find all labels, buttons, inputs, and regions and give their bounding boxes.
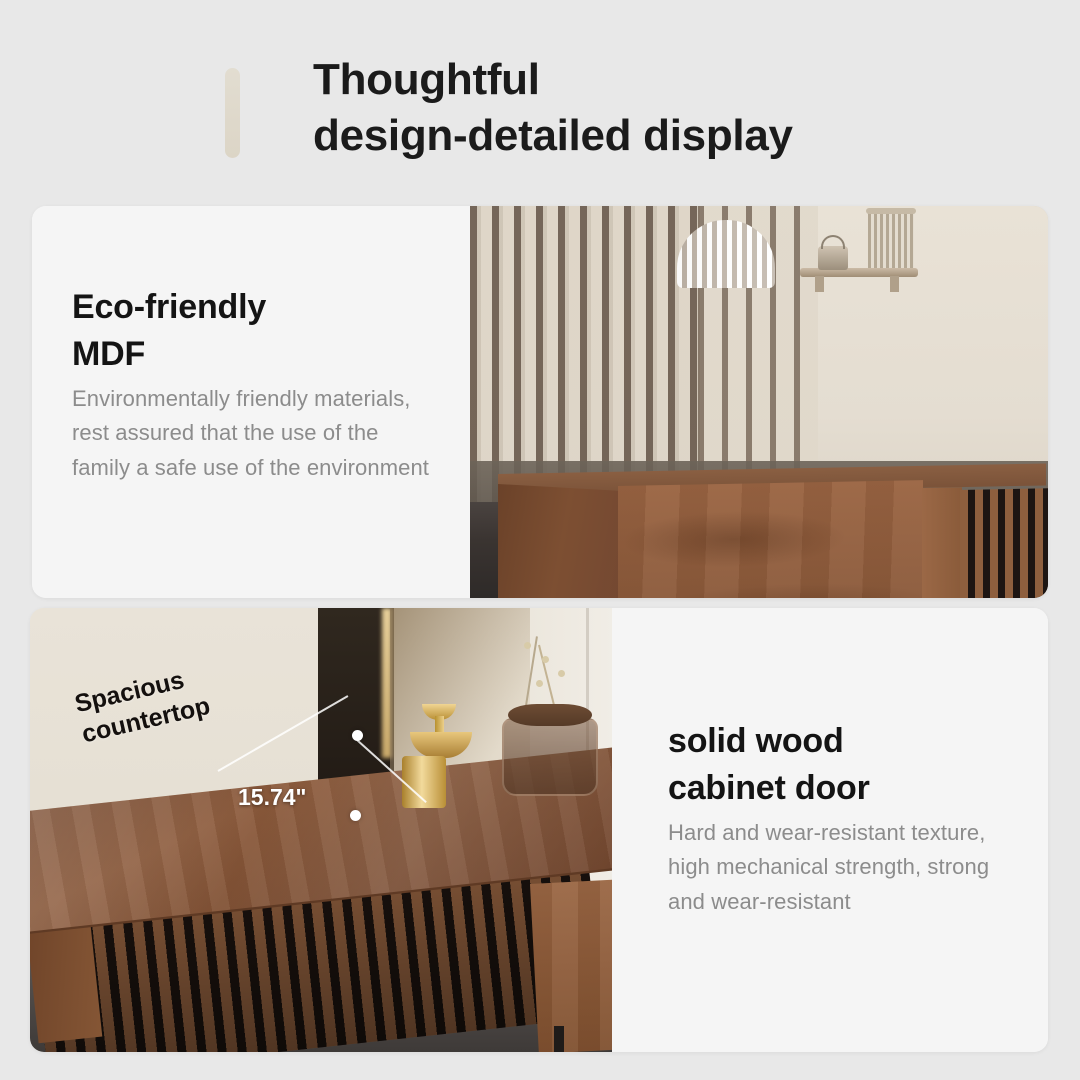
feature-title-2: solid wood cabinet door [668,718,1008,811]
cabinet-side-panel [498,484,620,598]
feature-text-block-2: solid wood cabinet door Hard and wear-re… [612,608,1048,1052]
cabinet-stile [922,487,962,598]
tray-foot-left [815,276,824,292]
page-title-line-2: design-detailed display [313,108,1053,164]
feature-panel-eco-friendly: Eco-friendly MDF Environmentally friendl… [32,206,1048,598]
product-photo-cabinet-slatwall [470,206,1048,598]
tray-foot-right [890,276,899,292]
cylinder-cap-decor [866,208,916,214]
stand-leg [554,1026,564,1052]
glass-jar-decor [502,718,598,796]
feature-title-2-line-1: solid wood [668,722,844,760]
feature-title-1: Eco-friendly MDF [72,284,432,377]
branch-bud [542,656,549,663]
product-photo-countertop [30,608,642,1052]
branch-bud [558,670,565,677]
branch-bud [524,642,531,649]
page-header: Thoughtful design-detailed display [0,0,1080,196]
ribbed-cylinder-decor [868,212,914,270]
ceramic-pot-decor [818,246,848,270]
slatted-door-section [960,488,1048,598]
feature-body-2: Hard and wear-resistant texture, high me… [668,816,1018,919]
glass-jar-lid [508,704,592,726]
accent-bar-icon [225,68,240,158]
branch-bud [536,680,543,687]
feature-title-1-line-1: Eco-friendly [72,288,266,326]
feature-text-block-1: Eco-friendly MDF Environmentally friendl… [32,206,470,598]
wood-grain-overlay [618,486,923,598]
dimension-endpoint-bottom [350,810,361,821]
dimension-label: 15.74" [238,784,306,811]
page-title: Thoughtful design-detailed display [313,52,1053,164]
feature-title-1-line-2: MDF [72,335,145,373]
feature-body-1: Environmentally friendly materials, rest… [72,382,440,485]
feature-title-2-line-2: cabinet door [668,769,870,807]
page-title-line-1: Thoughtful [313,55,540,104]
dimension-endpoint-top [352,730,363,741]
